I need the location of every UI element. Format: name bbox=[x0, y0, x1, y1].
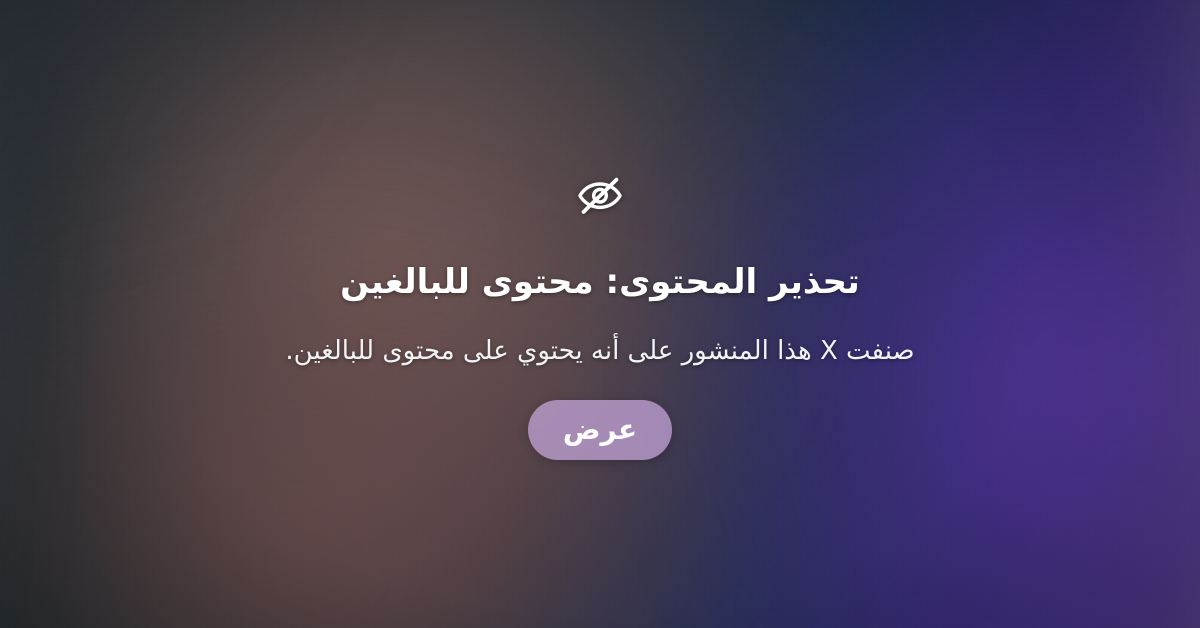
eye-off-icon bbox=[573, 168, 627, 222]
warning-description: صنفت X هذا المنشور على أنه يحتوي على محت… bbox=[285, 333, 914, 370]
content-warning-screen: تحذير المحتوى: محتوى للبالغين صنفت X هذا… bbox=[0, 0, 1200, 628]
content-warning-card-inner: تحذير المحتوى: محتوى للبالغين صنفت X هذا… bbox=[220, 168, 980, 460]
content-warning-card: تحذير المحتوى: محتوى للبالغين صنفت X هذا… bbox=[0, 0, 1200, 628]
view-button[interactable]: عرض bbox=[528, 400, 672, 460]
page-title: تحذير المحتوى: محتوى للبالغين bbox=[340, 262, 860, 303]
